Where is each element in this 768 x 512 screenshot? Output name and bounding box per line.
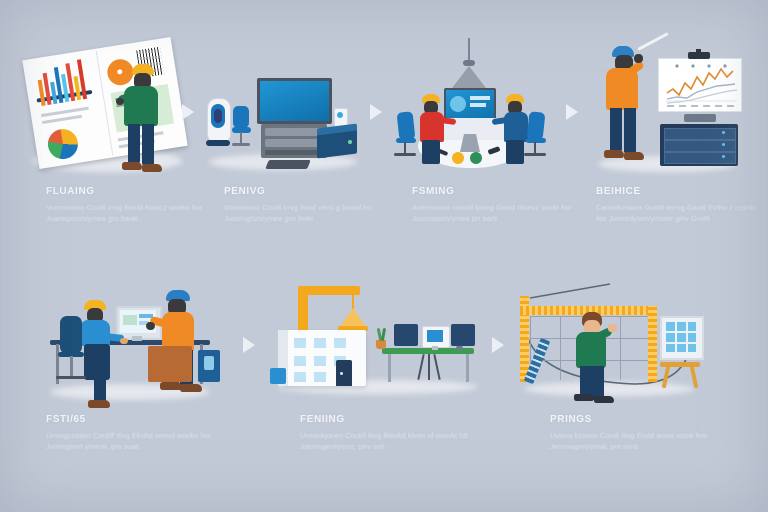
step-5-scene bbox=[44, 272, 224, 398]
step-3-scene bbox=[392, 38, 552, 174]
step-1-heading: FLUAING bbox=[46, 186, 214, 197]
step-6-body: Uveonkjonen Coutill Itivg Bleokd klvon u… bbox=[300, 430, 468, 452]
step-2-caption: PENIVG Voomwoco Coutil Irrvg hvod vlers … bbox=[224, 186, 392, 224]
step-3-heading: FSMING bbox=[412, 186, 580, 197]
step-6-caption: FENIING Uveonkjonen Coutill Itivg Bleokd… bbox=[300, 414, 468, 452]
step-1-caption: FLUAING Voomvcono Coutil Irrvg Boxid hos… bbox=[46, 186, 214, 224]
step-3-caption: FSMING Avemsvoce riceotil bmeg Goxid rti… bbox=[412, 186, 580, 224]
step-5-body: Unvogyzoaen Coutilf Itivg Ekohd oonvd wo… bbox=[46, 430, 214, 452]
step-2-heading: PENIVG bbox=[224, 186, 392, 197]
step-4-body: Caomrkzowcs Guotil Ierrvg Gaotil Evtho z… bbox=[596, 202, 764, 224]
step-3-body: Avemsvoce riceotil bmeg Goxid rtisevz ss… bbox=[412, 202, 580, 224]
step-6-scene bbox=[270, 276, 490, 396]
step-2-body: Voomwoco Coutil Irrvg hvod vlers g bvoio… bbox=[224, 202, 392, 224]
step-5-caption: FSTI/65 Unvogyzoaen Coutilf Itivg Ekohd … bbox=[46, 414, 214, 452]
step-7-body: Uvions kzovon Coutil Itivg Erutd aovni v… bbox=[550, 430, 718, 452]
step-4-scene bbox=[592, 34, 752, 174]
step-5-heading: FSTI/65 bbox=[46, 414, 214, 425]
arrow-2-icon bbox=[370, 104, 382, 120]
step-2-scene bbox=[205, 72, 360, 172]
arrow-6-icon bbox=[492, 337, 504, 353]
step-7-scene bbox=[514, 272, 714, 398]
step-7-caption: PRINGS Uvions kzovon Coutil Itivg Erutd … bbox=[550, 414, 718, 452]
step-1-body: Voomvcono Coutil Irrvg Boxid hoskrz woek… bbox=[46, 202, 214, 224]
arrow-3-icon bbox=[566, 104, 578, 120]
arrow-5-icon bbox=[243, 337, 255, 353]
step-6-heading: FENIING bbox=[300, 414, 468, 425]
step-4-caption: BEIHICE Caomrkzowcs Guotil Ierrvg Gaotil… bbox=[596, 186, 764, 224]
step-1-scene bbox=[22, 30, 192, 175]
infographic-board: FLUAING Voomvcono Coutil Irrvg Boxid hos… bbox=[0, 0, 768, 512]
line-chart-panel bbox=[658, 58, 742, 112]
step-4-heading: BEIHICE bbox=[596, 186, 764, 197]
arrow-1-icon bbox=[182, 104, 194, 120]
step-7-heading: PRINGS bbox=[550, 414, 718, 425]
